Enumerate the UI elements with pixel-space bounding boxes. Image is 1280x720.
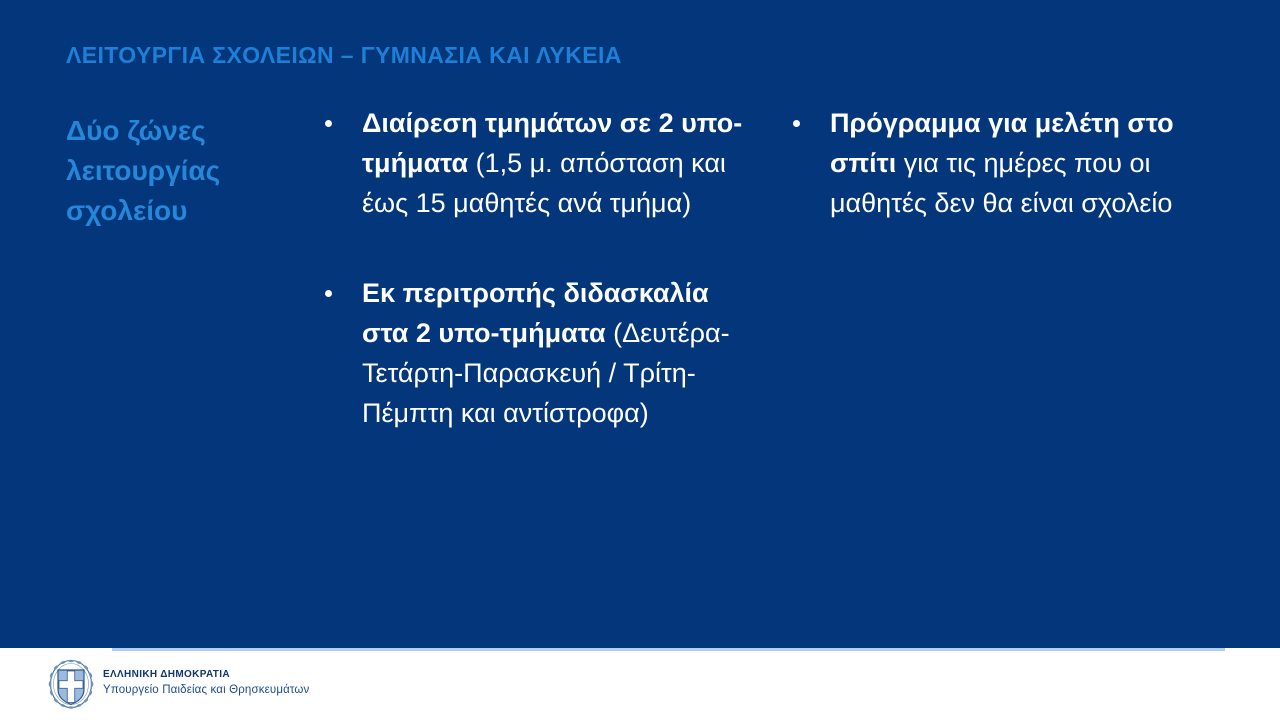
bullet-text: Πρόγραμμα για μελέτη στο σπίτι για τις η… bbox=[830, 103, 1216, 223]
greek-coat-of-arms-icon bbox=[48, 659, 94, 709]
bullet-text: Εκ περιτροπής διδασκαλία στα 2 υπο-τμήμα… bbox=[362, 273, 748, 433]
list-item: Διαίρεση τμημάτων σε 2 υπο-τμήματα (1,5 … bbox=[318, 103, 748, 223]
footer-organization: ΕΛΛΗΝΙΚΗ ΔΗΜΟΚΡΑΤΙΑ bbox=[103, 668, 309, 682]
left-column-heading: Δύο ζώνες λειτουργίας σχολείου bbox=[66, 103, 298, 230]
footer-divider bbox=[112, 648, 1225, 651]
bullet-dot-icon bbox=[325, 120, 332, 127]
column-left: Δύο ζώνες λειτουργίας σχολείου bbox=[66, 103, 298, 230]
column-right: Πρόγραμμα για μελέτη στο σπίτι για τις η… bbox=[786, 103, 1216, 223]
slide-title: ΛΕΙΤΟΥΡΓΙΑ ΣΧΟΛΕΙΩΝ – ΓΥΜΝΑΣΙΑ ΚΑΙ ΛΥΚΕΙ… bbox=[66, 42, 1166, 70]
bullet-list-middle: Διαίρεση τμημάτων σε 2 υπο-τμήματα (1,5 … bbox=[318, 103, 748, 433]
list-item: Εκ περιτροπής διδασκαλία στα 2 υπο-τμήμα… bbox=[318, 273, 748, 433]
bullet-list-right: Πρόγραμμα για μελέτη στο σπίτι για τις η… bbox=[786, 103, 1216, 223]
ministry-logo: ΕΛΛΗΝΙΚΗ ΔΗΜΟΚΡΑΤΙΑ Υπουργείο Παιδείας κ… bbox=[48, 659, 309, 709]
bullet-dot-icon bbox=[793, 120, 800, 127]
slide-content: Δύο ζώνες λειτουργίας σχολείου Διαίρεση … bbox=[0, 103, 1280, 623]
list-item: Πρόγραμμα για μελέτη στο σπίτι για τις η… bbox=[786, 103, 1216, 223]
slide-canvas: ΛΕΙΤΟΥΡΓΙΑ ΣΧΟΛΕΙΩΝ – ΓΥΜΝΑΣΙΑ ΚΑΙ ΛΥΚΕΙ… bbox=[0, 0, 1280, 720]
column-middle: Διαίρεση τμημάτων σε 2 υπο-τμήματα (1,5 … bbox=[318, 103, 748, 433]
bullet-dot-icon bbox=[325, 290, 332, 297]
footer-ministry: Υπουργείο Παιδείας και Θρησκευμάτων bbox=[103, 682, 309, 698]
slide-footer: ΕΛΛΗΝΙΚΗ ΔΗΜΟΚΡΑΤΙΑ Υπουργείο Παιδείας κ… bbox=[0, 648, 1280, 720]
ministry-logo-text: ΕΛΛΗΝΙΚΗ ΔΗΜΟΚΡΑΤΙΑ Υπουργείο Παιδείας κ… bbox=[103, 668, 309, 700]
bullet-text: Διαίρεση τμημάτων σε 2 υπο-τμήματα (1,5 … bbox=[362, 103, 748, 223]
